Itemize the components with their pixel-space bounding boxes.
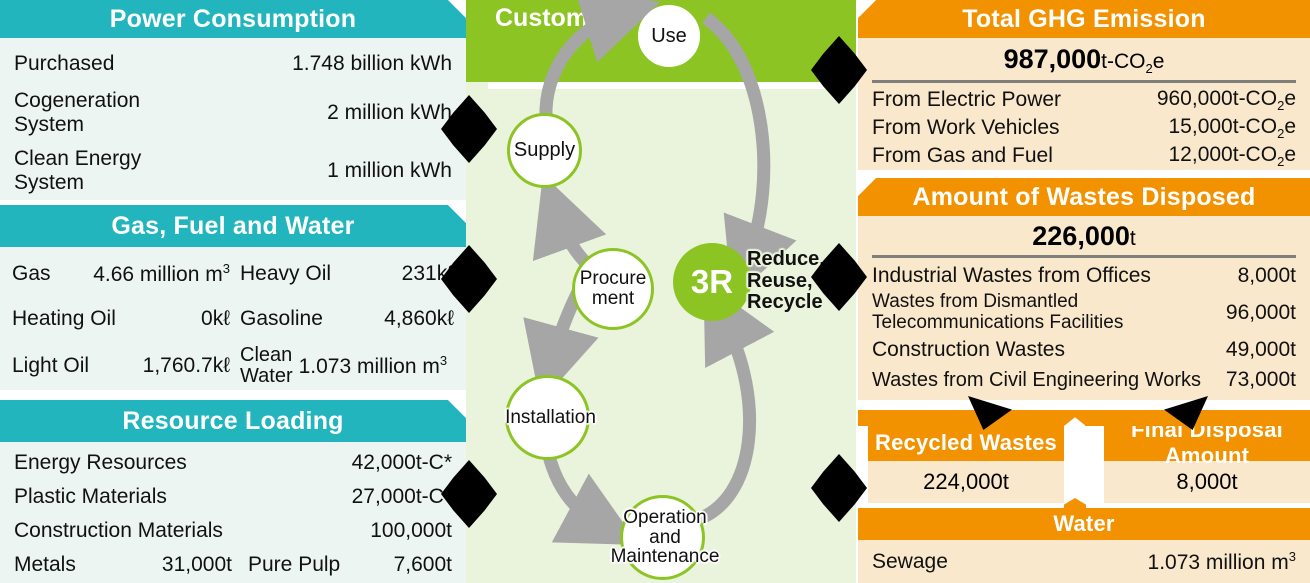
row-label: From Electric Power [872, 88, 1061, 112]
row-label: Wastes from Civil Engineering Works [872, 369, 1201, 392]
row-unit-post: e [1284, 115, 1296, 138]
row-value: 31,000t [162, 553, 232, 577]
power-consumption-title: Power Consumption [0, 0, 466, 38]
recycled-wastes-value: 224,000t [923, 469, 1009, 495]
row-label: Heating Oil [12, 307, 116, 331]
node-procurement[interactable]: Procure ment [572, 248, 654, 330]
row-value: 27,000t-C* [352, 485, 452, 509]
row-value: 0kℓ [201, 307, 230, 331]
ghg-total-value: 987,000 [1004, 44, 1102, 74]
table-row: From Electric Power 960,000t-CO2e [872, 86, 1296, 114]
panel-resource-loading: Resource Loading Energy Resources 42,000… [0, 400, 466, 583]
row-label: From Work Vehicles [872, 116, 1060, 140]
gas-fuel-water-body: Gas 4.66 million m3 Heavy Oil 231kℓ Heat… [0, 247, 466, 390]
node-use-label: Use [651, 26, 687, 47]
wastes-total-value: 226,000 [1032, 221, 1130, 251]
divider [872, 255, 1296, 258]
row-label: Construction Materials [14, 519, 223, 543]
row-value: 1.073 million m [1148, 551, 1289, 574]
node-procurement-label: Procure ment [580, 269, 647, 309]
table-row: Metals 31,000t Pure Pulp 7,600t [14, 548, 452, 582]
node-3r[interactable]: 3R [673, 243, 751, 321]
recycled-wastes-title: Recycled Wastes [868, 425, 1064, 461]
power-consumption-body: Purchased 1.748 billion kWh Cogeneration… [0, 38, 466, 200]
node-supply-label: Supply [514, 140, 575, 161]
ghg-total-unit-pre: t-CO [1101, 50, 1145, 73]
row-value: 1.748 billion kWh [292, 52, 452, 76]
row-label: Cogeneration System [14, 89, 140, 136]
row-unit-pre: t-CO [1233, 143, 1277, 166]
row-label: Plastic Materials [14, 485, 167, 509]
table-row: Sewage 1.073 million m3 [872, 540, 1296, 583]
table-row: From Gas and Fuel 12,000t-CO2e [872, 142, 1296, 170]
water-title: Water [858, 508, 1310, 540]
row-label: Clean Energy System [14, 147, 141, 194]
final-disposal-title: Final Disposal Amount [1104, 425, 1310, 461]
arrow-operation-to-3r [696, 320, 750, 520]
table-row: Plastic Materials 27,000t-C* [14, 480, 452, 514]
row-value: 100,000t [370, 519, 452, 543]
table-row: Purchased 1.748 billion kWh [14, 44, 452, 84]
resource-loading-body: Energy Resources 42,000t-C* Plastic Mate… [0, 442, 466, 583]
node-installation[interactable]: Installation [505, 375, 590, 460]
row-value: 8,000t [1238, 264, 1296, 288]
table-row: Cogeneration System 2 million kWh [14, 84, 452, 142]
connector-notch [1064, 410, 1086, 426]
row-label-2: Pure Pulp [248, 553, 340, 577]
row-unit-pre: t-CO [1233, 87, 1277, 110]
row-unit-post: e [1284, 87, 1296, 110]
node-3r-label: 3R [691, 263, 733, 301]
table-row: From Work Vehicles 15,000t-CO2e [872, 114, 1296, 142]
row-value: 4.66 million m [93, 263, 223, 286]
node-installation-label: Installation [502, 408, 599, 428]
row-value-sup: 3 [223, 261, 230, 276]
wastes-disposed-body: 226,000t Industrial Wastes from Offices … [858, 216, 1310, 400]
row-value: 1,760.7kℓ [143, 354, 230, 378]
row-value: 12,000 [1169, 143, 1233, 166]
wastes-total: 226,000t [872, 218, 1296, 255]
table-row: Light Oil 1,760.7kℓ Clean Water 1.073 mi… [12, 341, 454, 391]
panel-recycled-wastes: Recycled Wastes 224,000t [868, 425, 1064, 503]
row-value: 49,000t [1226, 338, 1296, 362]
panel-total-ghg-emission: Total GHG Emission 987,000t-CO2e From El… [858, 0, 1310, 170]
panel-wastes-disposed: Amount of Wastes Disposed 226,000t Indus… [858, 178, 1310, 400]
node-supply[interactable]: Supply [507, 113, 582, 188]
arrow-use-to-3r [706, 18, 764, 258]
row-label-2: Heavy Oil [240, 262, 331, 286]
row-value: 42,000t-C* [352, 451, 452, 475]
arrow-supply-to-use [546, 15, 618, 118]
row-value-2: 7,600t [394, 553, 452, 577]
wastes-disposed-title: Amount of Wastes Disposed [858, 178, 1310, 216]
node-operation-label: Operation and Maintenance [601, 508, 729, 568]
table-row: Wastes from Civil Engineering Works 73,0… [872, 365, 1296, 395]
row-value: 960,000 [1157, 87, 1233, 110]
row-label: Sewage [872, 550, 948, 574]
recycled-wastes-value-box: 224,000t [868, 461, 1064, 503]
row-value: 73,000t [1226, 368, 1296, 392]
row-label-2: Clean Water [240, 345, 293, 387]
ghg-total-unit-post: e [1153, 50, 1165, 73]
table-row: Construction Wastes 49,000t [872, 335, 1296, 365]
divider [872, 80, 1296, 83]
table-row: Gas 4.66 million m3 Heavy Oil 231kℓ [12, 251, 454, 296]
row-value-sup: 3 [1289, 549, 1296, 564]
arrow-installation-to-operation [548, 452, 600, 524]
table-row: Construction Materials 100,000t [14, 514, 452, 548]
row-label: Wastes from Dismantled Telecommunication… [872, 292, 1123, 333]
ghg-total-unit-sub: 2 [1146, 61, 1153, 76]
row-value: 96,000t [1226, 301, 1296, 325]
row-label-2: Gasoline [240, 307, 323, 331]
water-body: Sewage 1.073 million m3 [858, 540, 1310, 583]
table-row: Industrial Wastes from Offices 8,000t [872, 261, 1296, 291]
row-label: Industrial Wastes from Offices [872, 264, 1151, 288]
row-value-2: 4,860kℓ [384, 307, 454, 331]
row-label: Purchased [14, 52, 114, 76]
gas-fuel-water-title: Gas, Fuel and Water [0, 205, 466, 247]
row-value: 15,000 [1169, 115, 1233, 138]
panel-power-consumption: Power Consumption Purchased 1.748 billio… [0, 0, 466, 200]
infographic-root: Power Consumption Purchased 1.748 billio… [0, 0, 1310, 583]
table-row: Wastes from Dismantled Telecommunication… [872, 291, 1296, 335]
row-value: 2 million kWh [327, 101, 452, 125]
row-label: Gas [12, 262, 51, 286]
row-unit-post: e [1284, 143, 1296, 166]
panel-gas-fuel-water: Gas, Fuel and Water Gas 4.66 million m3 … [0, 205, 466, 390]
total-ghg-title: Total GHG Emission [858, 0, 1310, 38]
row-label: Metals [14, 553, 76, 577]
row-label: Energy Resources [14, 451, 187, 475]
node-use[interactable]: Use [638, 5, 700, 67]
row-label: Construction Wastes [872, 338, 1065, 362]
resource-loading-title: Resource Loading [0, 400, 466, 442]
material-flow-diagram: Customer Use Supply [466, 0, 856, 583]
total-ghg-body: 987,000t-CO2e From Electric Power 960,00… [858, 38, 1310, 170]
row-label: Light Oil [12, 354, 89, 378]
table-row: Heating Oil 0kℓ Gasoline 4,860kℓ [12, 296, 454, 341]
table-row: Energy Resources 42,000t-C* [14, 446, 452, 480]
row-unit-pre: t-CO [1233, 115, 1277, 138]
row-value: 1 million kWh [327, 159, 452, 183]
table-row: Clean Energy System 1 million kWh [14, 142, 452, 200]
panel-final-disposal: Final Disposal Amount 8,000t [1104, 425, 1310, 503]
ghg-total: 987,000t-CO2e [872, 40, 1296, 80]
final-disposal-value: 8,000t [1176, 469, 1237, 495]
connector-left [858, 410, 1064, 426]
row-label: From Gas and Fuel [872, 144, 1053, 168]
row-value-2-sup: 3 [440, 353, 447, 368]
panel-water: Water Sewage 1.073 million m3 [858, 508, 1310, 583]
row-value-2: 1.073 million m [299, 355, 440, 378]
node-operation-maintenance[interactable]: Operation and Maintenance [620, 495, 705, 580]
wastes-total-unit: t [1130, 227, 1136, 250]
